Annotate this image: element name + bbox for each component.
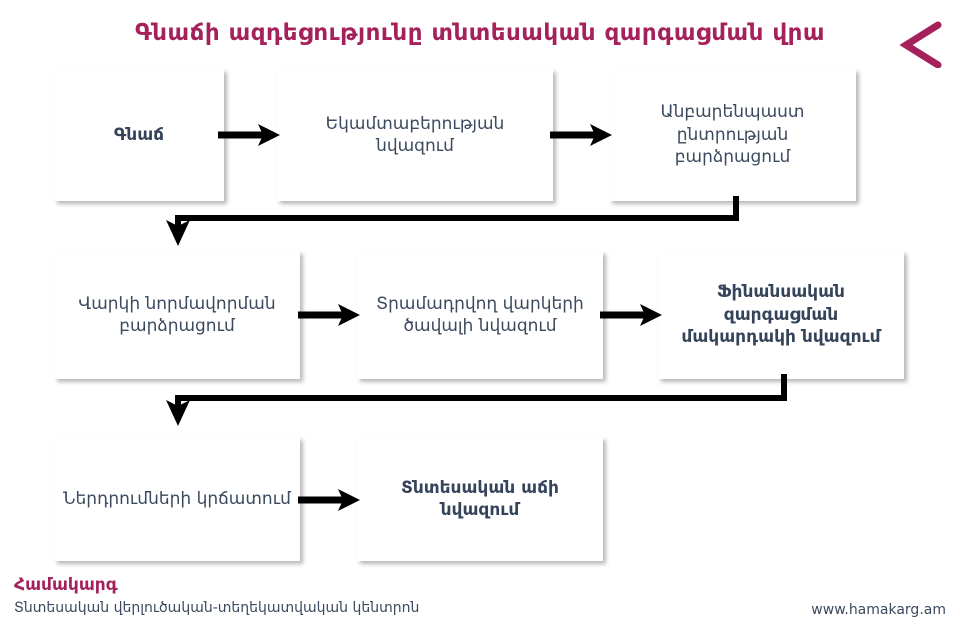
arrow-right-icon	[298, 300, 360, 330]
arrow-right-icon	[298, 485, 360, 515]
flow-box-label: Տնտեսական աճի նվազում	[365, 477, 595, 522]
chevron-left-mark-icon	[898, 20, 942, 68]
flow-box-credit-rationing[interactable]: Վարկի նորմավորման բարձրացում	[54, 251, 300, 379]
flow-box-label: Եկամտաբերության նվազում	[285, 113, 545, 158]
flow-box-label: Ներդրումների կրճատում	[62, 488, 292, 510]
footer-brand: Համակարգ	[14, 575, 118, 595]
footer-subtitle: Տնտեսական վերլուծական-տեղեկատվական կենտր…	[14, 600, 419, 616]
flow-box-financial-development-decline[interactable]: Ֆինանսական զարգացման մակարդակի նվազում	[658, 251, 904, 379]
connector-arrow-row2-to-row3-icon	[160, 374, 808, 432]
flow-box-economic-growth-decline[interactable]: Տնտեսական աճի նվազում	[357, 437, 603, 561]
flow-box-label: Ֆինանսական զարգացման մակարդակի նվազում	[666, 281, 896, 348]
flow-box-adverse-selection[interactable]: Անբարենպաստ ընտրության բարձրացում	[609, 69, 856, 201]
flow-box-loan-volume-decline[interactable]: Տրամադրվող վարկերի ծավալի նվազում	[357, 251, 603, 379]
flow-box-label: Տրամադրվող վարկերի ծավալի նվազում	[365, 293, 595, 338]
arrow-right-icon	[600, 300, 662, 330]
flow-box-yield-decline[interactable]: Եկամտաբերության նվազում	[277, 69, 553, 201]
arrow-right-icon	[550, 120, 612, 150]
flow-box-label: Գնաճ	[62, 124, 216, 146]
arrow-right-icon	[218, 120, 280, 150]
flow-box-investment-cut[interactable]: Ներդրումների կրճատում	[54, 437, 300, 561]
flow-box-label: Վարկի նորմավորման բարձրացում	[62, 293, 292, 338]
slide-canvas: Գնաճի ազդեցությունը տնտեսական զարգացման …	[0, 0, 960, 627]
page-title: Գնաճի ազդեցությունը տնտեսական զարգացման …	[0, 20, 960, 46]
flow-box-label: Անբարենպաստ ընտրության բարձրացում	[617, 101, 848, 168]
flow-box-inflation[interactable]: Գնաճ	[54, 69, 224, 201]
footer-website[interactable]: www.hamakarg.am	[811, 602, 946, 618]
connector-arrow-row1-to-row2-icon	[160, 196, 760, 252]
